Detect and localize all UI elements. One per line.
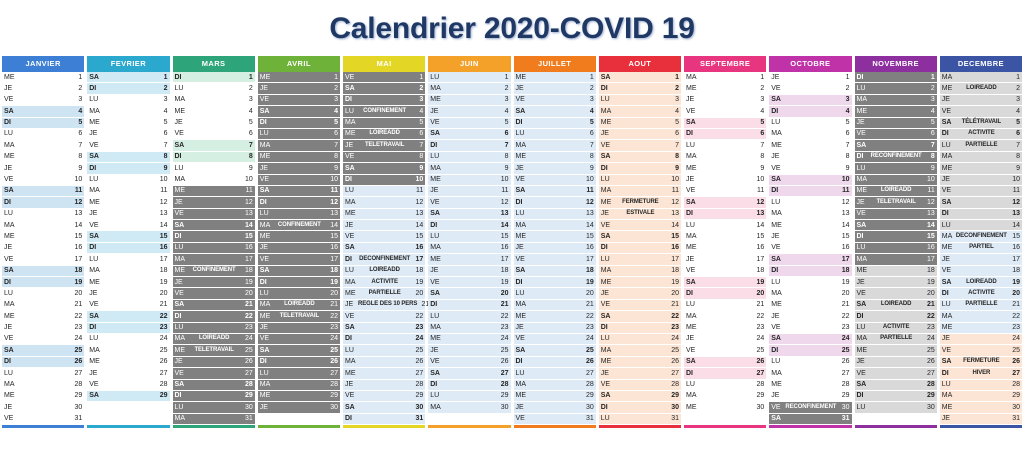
day-row[interactable]: DIACTIVITE6: [940, 129, 1022, 140]
month-header-fevrier[interactable]: FEVRIER: [87, 56, 169, 72]
day-row[interactable]: MA14: [514, 220, 596, 231]
day-row[interactable]: JE18: [428, 266, 510, 277]
day-row[interactable]: SA8: [599, 152, 681, 163]
day-row[interactable]: SA18: [2, 266, 84, 277]
day-row[interactable]: ME8: [514, 152, 596, 163]
day-row[interactable]: MA17: [855, 254, 937, 265]
day-row[interactable]: DI26: [258, 357, 340, 368]
day-row[interactable]: ME7: [769, 140, 851, 151]
day-row[interactable]: VE4: [940, 106, 1022, 117]
day-row[interactable]: DI29: [855, 391, 937, 402]
day-row[interactable]: SA7: [855, 140, 937, 151]
day-row[interactable]: VE2: [769, 83, 851, 94]
day-row[interactable]: ME29: [514, 391, 596, 402]
day-row[interactable]: JE20: [599, 288, 681, 299]
day-row[interactable]: ME28: [769, 380, 851, 391]
day-row[interactable]: LU30: [855, 402, 937, 413]
day-row[interactable]: JE28: [343, 380, 425, 391]
day-row[interactable]: ME5: [599, 118, 681, 129]
day-row[interactable]: VE16: [769, 243, 851, 254]
day-row[interactable]: ME4: [173, 106, 255, 117]
day-row[interactable]: SA19: [684, 277, 766, 288]
month-header-septembre[interactable]: SEPTEMBRE: [684, 56, 766, 72]
month-header-juillet[interactable]: JUILLET: [514, 56, 596, 72]
day-row[interactable]: DI19: [514, 277, 596, 288]
day-row[interactable]: METELETRAVAIL22: [258, 311, 340, 322]
day-row[interactable]: JETELETRAVAIL12: [855, 197, 937, 208]
day-row[interactable]: JE5: [855, 118, 937, 129]
day-row[interactable]: DI16: [599, 243, 681, 254]
day-row[interactable]: LUCONFINEMENT4: [343, 106, 425, 117]
day-row[interactable]: LU1: [428, 72, 510, 83]
day-row[interactable]: JE13: [87, 209, 169, 220]
day-row[interactable]: LU29: [428, 391, 510, 402]
day-row[interactable]: MAACTIVITE19: [343, 277, 425, 288]
day-row[interactable]: SA12: [684, 197, 766, 208]
day-row[interactable]: MACONFINEMENT14: [258, 220, 340, 231]
month-header-mai[interactable]: MAI: [343, 56, 425, 72]
day-row[interactable]: LU27: [258, 368, 340, 379]
day-row[interactable]: VE17: [2, 254, 84, 265]
day-row[interactable]: JE15: [769, 231, 851, 242]
day-row[interactable]: JE30: [2, 402, 84, 413]
day-row[interactable]: JE17: [684, 254, 766, 265]
day-row[interactable]: SA29: [599, 391, 681, 402]
day-row[interactable]: MA22: [684, 311, 766, 322]
day-row[interactable]: JEESTIVALE13: [599, 209, 681, 220]
day-row[interactable]: JE27: [87, 368, 169, 379]
day-row[interactable]: MA26: [343, 357, 425, 368]
day-row[interactable]: SA20: [428, 288, 510, 299]
day-row[interactable]: MA1: [684, 72, 766, 83]
day-row[interactable]: LU24: [87, 334, 169, 345]
day-row[interactable]: MA8: [940, 152, 1022, 163]
day-row[interactable]: JE24: [684, 334, 766, 345]
day-row[interactable]: LU27: [2, 368, 84, 379]
day-row[interactable]: SA14: [173, 220, 255, 231]
day-row[interactable]: ME9: [940, 163, 1022, 174]
day-row[interactable]: ME8: [258, 152, 340, 163]
day-row[interactable]: SA15: [87, 231, 169, 242]
day-row[interactable]: VE4: [684, 106, 766, 117]
day-row[interactable]: VE5: [428, 118, 510, 129]
day-row[interactable]: DI22: [855, 311, 937, 322]
day-row[interactable]: SA26: [684, 357, 766, 368]
day-row[interactable]: LU26: [769, 357, 851, 368]
day-row[interactable]: SA15: [599, 231, 681, 242]
day-row[interactable]: DI23: [599, 323, 681, 334]
day-row[interactable]: VE26: [428, 357, 510, 368]
day-row[interactable]: LU17: [599, 254, 681, 265]
day-row[interactable]: ME15: [258, 231, 340, 242]
day-row[interactable]: ME25: [855, 345, 937, 356]
day-row[interactable]: VERECONFINEMENT30: [769, 402, 851, 413]
day-row[interactable]: DI20: [684, 288, 766, 299]
day-row[interactable]: JE16: [258, 243, 340, 254]
day-row[interactable]: ME21: [769, 300, 851, 311]
day-row[interactable]: ME4: [855, 106, 937, 117]
day-row[interactable]: MECONFINEMENT18: [173, 266, 255, 277]
day-row[interactable]: JE4: [428, 106, 510, 117]
day-row[interactable]: SA11: [258, 186, 340, 197]
day-row[interactable]: LU28: [684, 380, 766, 391]
day-row[interactable]: DI1: [173, 72, 255, 83]
day-row[interactable]: LU22: [428, 311, 510, 322]
day-row[interactable]: DI22: [173, 311, 255, 322]
day-row[interactable]: SA14: [855, 220, 937, 231]
day-row[interactable]: MA17: [173, 254, 255, 265]
day-row[interactable]: JE22: [769, 311, 851, 322]
day-row[interactable]: LU14: [940, 220, 1022, 231]
day-row[interactable]: MALOIREADD21: [258, 300, 340, 311]
day-row[interactable]: MA15: [684, 231, 766, 242]
day-row[interactable]: DI5: [2, 118, 84, 129]
day-row[interactable]: LU10: [599, 175, 681, 186]
day-row[interactable]: MA4: [599, 106, 681, 117]
day-row[interactable]: JEREGLE DES 10 PERS21: [343, 300, 425, 311]
day-row[interactable]: SA22: [599, 311, 681, 322]
day-row[interactable]: ME19: [599, 277, 681, 288]
day-row[interactable]: MA28: [258, 380, 340, 391]
day-row[interactable]: VE12: [428, 197, 510, 208]
day-row[interactable]: LULOIREADD18: [343, 266, 425, 277]
day-row[interactable]: MADECONFINEMENT15: [940, 231, 1022, 242]
day-row[interactable]: DI30: [599, 402, 681, 413]
day-row[interactable]: LU24: [599, 334, 681, 345]
day-row[interactable]: LU3: [599, 95, 681, 106]
day-row[interactable]: MA2: [428, 83, 510, 94]
day-row[interactable]: LU31: [599, 414, 681, 425]
day-row[interactable]: VE20: [173, 288, 255, 299]
day-row[interactable]: LU13: [258, 209, 340, 220]
day-row[interactable]: SA1: [599, 72, 681, 83]
day-row[interactable]: VE17: [514, 254, 596, 265]
day-row[interactable]: DI15: [855, 231, 937, 242]
day-row[interactable]: LU20: [2, 288, 84, 299]
day-row[interactable]: MA10: [173, 175, 255, 186]
day-row[interactable]: ME22: [514, 311, 596, 322]
day-row[interactable]: SA21: [173, 300, 255, 311]
day-row[interactable]: ME13: [343, 209, 425, 220]
day-row[interactable]: SA25: [514, 345, 596, 356]
day-row[interactable]: VE27: [173, 368, 255, 379]
day-row[interactable]: JE3: [940, 95, 1022, 106]
day-row[interactable]: ME26: [87, 357, 169, 368]
day-row[interactable]: VE29: [343, 391, 425, 402]
day-row[interactable]: JE19: [855, 277, 937, 288]
day-row[interactable]: VE27: [855, 368, 937, 379]
day-row[interactable]: JE19: [173, 277, 255, 288]
day-row[interactable]: JE2: [258, 83, 340, 94]
day-row[interactable]: JE16: [2, 243, 84, 254]
day-row[interactable]: VE21: [87, 300, 169, 311]
day-row[interactable]: MA31: [173, 414, 255, 425]
day-row[interactable]: LU5: [769, 118, 851, 129]
day-row[interactable]: LU12: [769, 197, 851, 208]
day-row[interactable]: ME10: [428, 175, 510, 186]
day-row[interactable]: JE10: [940, 175, 1022, 186]
day-row[interactable]: VE24: [258, 334, 340, 345]
day-row[interactable]: SA28: [855, 380, 937, 391]
day-row[interactable]: MAPARTIELLE24: [855, 334, 937, 345]
day-row[interactable]: DIDECONFINEMENT17: [343, 254, 425, 265]
day-row[interactable]: MA13: [769, 209, 851, 220]
day-row[interactable]: SA5: [684, 118, 766, 129]
day-row[interactable]: VE22: [343, 311, 425, 322]
month-header-aout[interactable]: AOUT: [599, 56, 681, 72]
day-row[interactable]: ME22: [2, 311, 84, 322]
day-row[interactable]: MA7: [2, 140, 84, 151]
day-row[interactable]: DI16: [87, 243, 169, 254]
day-row[interactable]: DI2: [87, 83, 169, 94]
day-row[interactable]: JE1: [769, 72, 851, 83]
day-row[interactable]: VE28: [87, 380, 169, 391]
day-row[interactable]: MEPARTIEL16: [940, 243, 1022, 254]
day-row[interactable]: LU20: [258, 288, 340, 299]
day-row[interactable]: MALOIREADD24: [173, 334, 255, 345]
day-row[interactable]: JE16: [514, 243, 596, 254]
day-row[interactable]: DI12: [258, 197, 340, 208]
month-header-juin[interactable]: JUIN: [428, 56, 510, 72]
day-row[interactable]: DI7: [428, 140, 510, 151]
day-row[interactable]: LU30: [173, 402, 255, 413]
day-row[interactable]: DI29: [173, 391, 255, 402]
day-row[interactable]: LU25: [343, 345, 425, 356]
day-row[interactable]: VE6: [173, 129, 255, 140]
day-row[interactable]: ME3: [428, 95, 510, 106]
day-row[interactable]: SALOIREADD19: [940, 277, 1022, 288]
day-row[interactable]: VE14: [599, 220, 681, 231]
day-row[interactable]: ME23: [940, 323, 1022, 334]
day-row[interactable]: VE1: [343, 72, 425, 83]
day-row[interactable]: ME1: [514, 72, 596, 83]
day-row[interactable]: DI8: [173, 152, 255, 163]
day-row[interactable]: DIACTIVITE20: [940, 288, 1022, 299]
day-row[interactable]: SA1: [87, 72, 169, 83]
day-row[interactable]: DI12: [514, 197, 596, 208]
day-row[interactable]: VE11: [940, 186, 1022, 197]
day-row[interactable]: DIHIVER27: [940, 368, 1022, 379]
day-row[interactable]: JE9: [514, 163, 596, 174]
day-row[interactable]: JE24: [940, 334, 1022, 345]
day-row[interactable]: JE5: [173, 118, 255, 129]
day-row[interactable]: VE18: [940, 266, 1022, 277]
day-row[interactable]: DI3: [343, 95, 425, 106]
day-row[interactable]: SA4: [258, 106, 340, 117]
day-row[interactable]: JE30: [514, 402, 596, 413]
day-row[interactable]: MA22: [940, 311, 1022, 322]
day-row[interactable]: VE10: [514, 175, 596, 186]
month-header-mars[interactable]: MARS: [173, 56, 255, 72]
day-row[interactable]: LUACTIVITE23: [855, 323, 937, 334]
day-row[interactable]: DI23: [87, 323, 169, 334]
month-header-decembre[interactable]: DECEMBRE: [940, 56, 1022, 72]
day-row[interactable]: DI5: [514, 118, 596, 129]
day-row[interactable]: SALOIREADD21: [855, 300, 937, 311]
day-row[interactable]: VE3: [258, 95, 340, 106]
day-row[interactable]: VE15: [343, 231, 425, 242]
day-row[interactable]: VE28: [599, 380, 681, 391]
day-row[interactable]: ME19: [87, 277, 169, 288]
day-row[interactable]: VE17: [258, 254, 340, 265]
day-row[interactable]: SA27: [428, 368, 510, 379]
day-row[interactable]: ME5: [87, 118, 169, 129]
day-row[interactable]: ME12: [87, 197, 169, 208]
day-row[interactable]: VE6: [855, 129, 937, 140]
day-row[interactable]: JE9: [2, 163, 84, 174]
day-row[interactable]: LU6: [2, 129, 84, 140]
day-row[interactable]: VE3: [2, 95, 84, 106]
day-row[interactable]: SA9: [343, 163, 425, 174]
day-row[interactable]: LU16: [855, 243, 937, 254]
day-row[interactable]: ME30: [940, 402, 1022, 413]
day-row[interactable]: ME30: [684, 402, 766, 413]
month-header-avril[interactable]: AVRIL: [258, 56, 340, 72]
day-row[interactable]: DI13: [684, 209, 766, 220]
day-row[interactable]: SA13: [428, 209, 510, 220]
day-row[interactable]: ME14: [769, 220, 851, 231]
day-row[interactable]: DI1: [855, 72, 937, 83]
day-row[interactable]: DI4: [769, 106, 851, 117]
day-row[interactable]: ME29: [2, 391, 84, 402]
day-row[interactable]: JE30: [258, 402, 340, 413]
day-row[interactable]: MEPARTIELLE20: [343, 288, 425, 299]
day-row[interactable]: DI13: [940, 209, 1022, 220]
day-row[interactable]: MA3: [855, 95, 937, 106]
day-row[interactable]: LU17: [87, 254, 169, 265]
day-row[interactable]: SA23: [343, 323, 425, 334]
day-row[interactable]: LU8: [428, 152, 510, 163]
day-row[interactable]: DI28: [428, 380, 510, 391]
day-row[interactable]: MA11: [599, 186, 681, 197]
day-row[interactable]: LU7: [684, 140, 766, 151]
day-row[interactable]: VE24: [514, 334, 596, 345]
day-row[interactable]: LU11: [343, 186, 425, 197]
day-row[interactable]: VE3: [514, 95, 596, 106]
day-row[interactable]: SA18: [514, 266, 596, 277]
day-row[interactable]: MA28: [2, 380, 84, 391]
day-row[interactable]: LU21: [684, 300, 766, 311]
day-row[interactable]: MA30: [428, 402, 510, 413]
day-row[interactable]: SA28: [173, 380, 255, 391]
day-row[interactable]: SAFERMETURE26: [940, 357, 1022, 368]
day-row[interactable]: MELOIREADD2: [940, 83, 1022, 94]
day-row[interactable]: JE23: [514, 323, 596, 334]
day-row[interactable]: MA29: [684, 391, 766, 402]
day-row[interactable]: DI26: [2, 357, 84, 368]
day-row[interactable]: LU13: [2, 209, 84, 220]
day-row[interactable]: MA5: [343, 118, 425, 129]
day-row[interactable]: METELETRAVAIL25: [173, 345, 255, 356]
day-row[interactable]: VE13: [173, 209, 255, 220]
day-row[interactable]: VE25: [940, 345, 1022, 356]
day-row[interactable]: MA21: [514, 300, 596, 311]
day-row[interactable]: SA24: [769, 334, 851, 345]
day-row[interactable]: JE11: [428, 186, 510, 197]
day-row[interactable]: SA11: [514, 186, 596, 197]
day-row[interactable]: MA6: [769, 129, 851, 140]
day-row[interactable]: DI25: [769, 345, 851, 356]
day-row[interactable]: SA3: [769, 95, 851, 106]
day-row[interactable]: ME15: [2, 231, 84, 242]
day-row[interactable]: ME23: [684, 323, 766, 334]
day-row[interactable]: MA27: [769, 368, 851, 379]
day-row[interactable]: VE21: [599, 300, 681, 311]
day-row[interactable]: MA8: [684, 152, 766, 163]
day-row[interactable]: DI6: [684, 129, 766, 140]
day-row[interactable]: SA17: [769, 254, 851, 265]
day-row[interactable]: LU20: [514, 288, 596, 299]
day-row[interactable]: JE26: [855, 357, 937, 368]
day-row[interactable]: LU16: [173, 243, 255, 254]
day-row[interactable]: JE2: [514, 83, 596, 94]
day-row[interactable]: MA12: [343, 197, 425, 208]
day-row[interactable]: JE6: [87, 129, 169, 140]
day-row[interactable]: DI18: [769, 266, 851, 277]
day-row[interactable]: DI10: [343, 175, 425, 186]
day-row[interactable]: DI11: [769, 186, 851, 197]
day-row[interactable]: LU9: [855, 163, 937, 174]
day-row[interactable]: DI19: [258, 277, 340, 288]
day-row[interactable]: VE31: [514, 414, 596, 425]
day-row[interactable]: SA18: [258, 266, 340, 277]
day-row[interactable]: MA4: [87, 106, 169, 117]
day-row[interactable]: VE8: [343, 152, 425, 163]
day-row[interactable]: LU14: [684, 220, 766, 231]
day-row[interactable]: JE27: [599, 368, 681, 379]
day-row[interactable]: MA9: [428, 163, 510, 174]
day-row[interactable]: SA22: [87, 311, 169, 322]
day-row[interactable]: ME24: [428, 334, 510, 345]
day-row[interactable]: JE12: [173, 197, 255, 208]
day-row[interactable]: VE19: [428, 277, 510, 288]
day-row[interactable]: MA29: [940, 391, 1022, 402]
day-row[interactable]: JE14: [343, 220, 425, 231]
day-row[interactable]: JE29: [769, 391, 851, 402]
day-row[interactable]: VE20: [855, 288, 937, 299]
day-row[interactable]: MA10: [855, 175, 937, 186]
day-row[interactable]: SA4: [2, 106, 84, 117]
day-row[interactable]: VE7: [87, 140, 169, 151]
day-row[interactable]: DI26: [514, 357, 596, 368]
month-header-novembre[interactable]: NOVEMBRE: [855, 56, 937, 72]
day-row[interactable]: MA25: [87, 345, 169, 356]
day-row[interactable]: SA25: [2, 345, 84, 356]
day-row[interactable]: LU28: [940, 380, 1022, 391]
day-row[interactable]: DI27: [684, 368, 766, 379]
day-row[interactable]: LU23: [173, 323, 255, 334]
day-row[interactable]: LU15: [428, 231, 510, 242]
day-row[interactable]: SA29: [87, 391, 169, 402]
day-row[interactable]: LU2: [173, 83, 255, 94]
day-row[interactable]: SA16: [343, 243, 425, 254]
day-row[interactable]: MA28: [514, 380, 596, 391]
day-row[interactable]: MA18: [599, 266, 681, 277]
day-row[interactable]: LU19: [769, 277, 851, 288]
day-row[interactable]: SA11: [2, 186, 84, 197]
day-row[interactable]: VE10: [258, 175, 340, 186]
day-row[interactable]: ME16: [684, 243, 766, 254]
day-row[interactable]: JE23: [258, 323, 340, 334]
day-row[interactable]: DI9: [599, 163, 681, 174]
day-row[interactable]: LU10: [87, 175, 169, 186]
day-row[interactable]: JE3: [684, 95, 766, 106]
day-row[interactable]: JE9: [258, 163, 340, 174]
day-row[interactable]: LU9: [173, 163, 255, 174]
day-row[interactable]: MA7: [514, 140, 596, 151]
day-row[interactable]: ME18: [855, 266, 937, 277]
day-row[interactable]: SATÉLÉTRAVAIL5: [940, 118, 1022, 129]
